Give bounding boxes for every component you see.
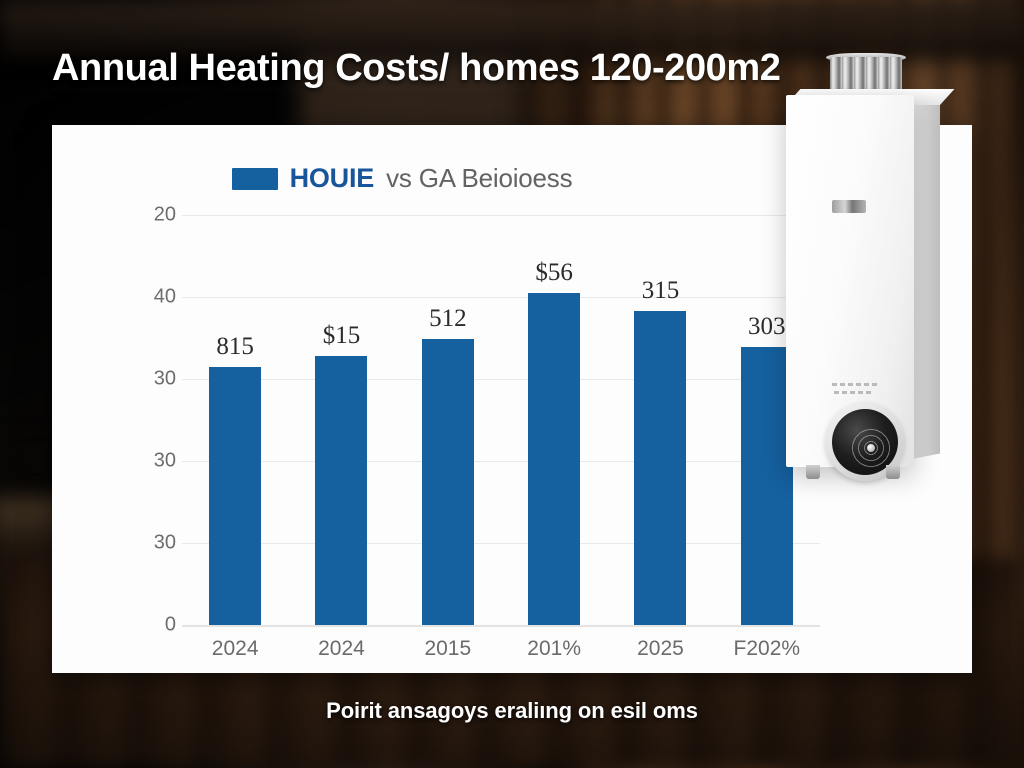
x-axis-tick-label: 201%: [501, 625, 607, 661]
heater-label-line-2: [834, 391, 872, 394]
fan-hub: [867, 444, 875, 452]
x-axis-tick-label: 2024: [182, 625, 288, 661]
bar-slot: $15: [288, 215, 394, 625]
bar-value-label: $15: [323, 322, 361, 350]
legend-label-primary: HOUIE: [290, 163, 375, 194]
bar-value-label: 315: [642, 277, 680, 305]
slide-canvas: Annual Heating Costs/ homes 120-200m2 HO…: [0, 0, 1024, 768]
bar-value-label: $56: [535, 259, 573, 287]
brand-badge-icon: [832, 200, 866, 213]
x-axis: 202420242015201%2025F202%: [182, 625, 820, 661]
heater-foot-right: [886, 465, 900, 479]
bar[interactable]: $15: [315, 356, 367, 625]
grid-area: 815$15512$56315303: [182, 215, 820, 625]
bar-chart-plot: 20403030300 815$15512$56315303 202420242…: [120, 215, 820, 625]
bar[interactable]: 815: [209, 367, 261, 625]
heater-foot-left: [806, 465, 820, 479]
y-axis: 20403030300: [120, 215, 176, 625]
x-axis-tick-label: 2024: [288, 625, 394, 661]
bar[interactable]: 315: [634, 311, 686, 625]
bar[interactable]: $56: [528, 293, 580, 625]
bar-value-label: 815: [216, 333, 254, 361]
x-axis-tick-label: F202%: [714, 625, 820, 661]
heater-body-front: [786, 95, 914, 467]
bar-group: 815$15512$56315303: [182, 215, 820, 625]
heater-body-side: [912, 92, 940, 459]
water-heater-illustration: [768, 45, 973, 525]
heater-label-line-1: [832, 383, 880, 386]
y-axis-tick-label: 30: [120, 532, 176, 555]
y-axis-tick-label: 20: [120, 204, 176, 227]
y-axis-tick-label: 0: [120, 614, 176, 637]
x-axis-tick-label: 2025: [607, 625, 713, 661]
chart-legend: HOUIE vs GA Beioioess: [52, 163, 752, 194]
y-axis-tick-label: 30: [120, 450, 176, 473]
bar-slot: 815: [182, 215, 288, 625]
bar-slot: $56: [501, 215, 607, 625]
bar[interactable]: 512: [422, 339, 474, 625]
x-axis-tick-label: 2015: [395, 625, 501, 661]
bar-value-label: 512: [429, 305, 467, 333]
bar-slot: 512: [395, 215, 501, 625]
legend-label-secondary: vs GA Beioioess: [386, 163, 572, 194]
y-axis-tick-label: 40: [120, 286, 176, 309]
legend-swatch-icon: [232, 168, 278, 190]
page-caption: Poirit ansaɡoys eraliıng on esil oms: [0, 698, 1024, 724]
y-axis-tick-label: 30: [120, 368, 176, 391]
bar-slot: 315: [607, 215, 713, 625]
